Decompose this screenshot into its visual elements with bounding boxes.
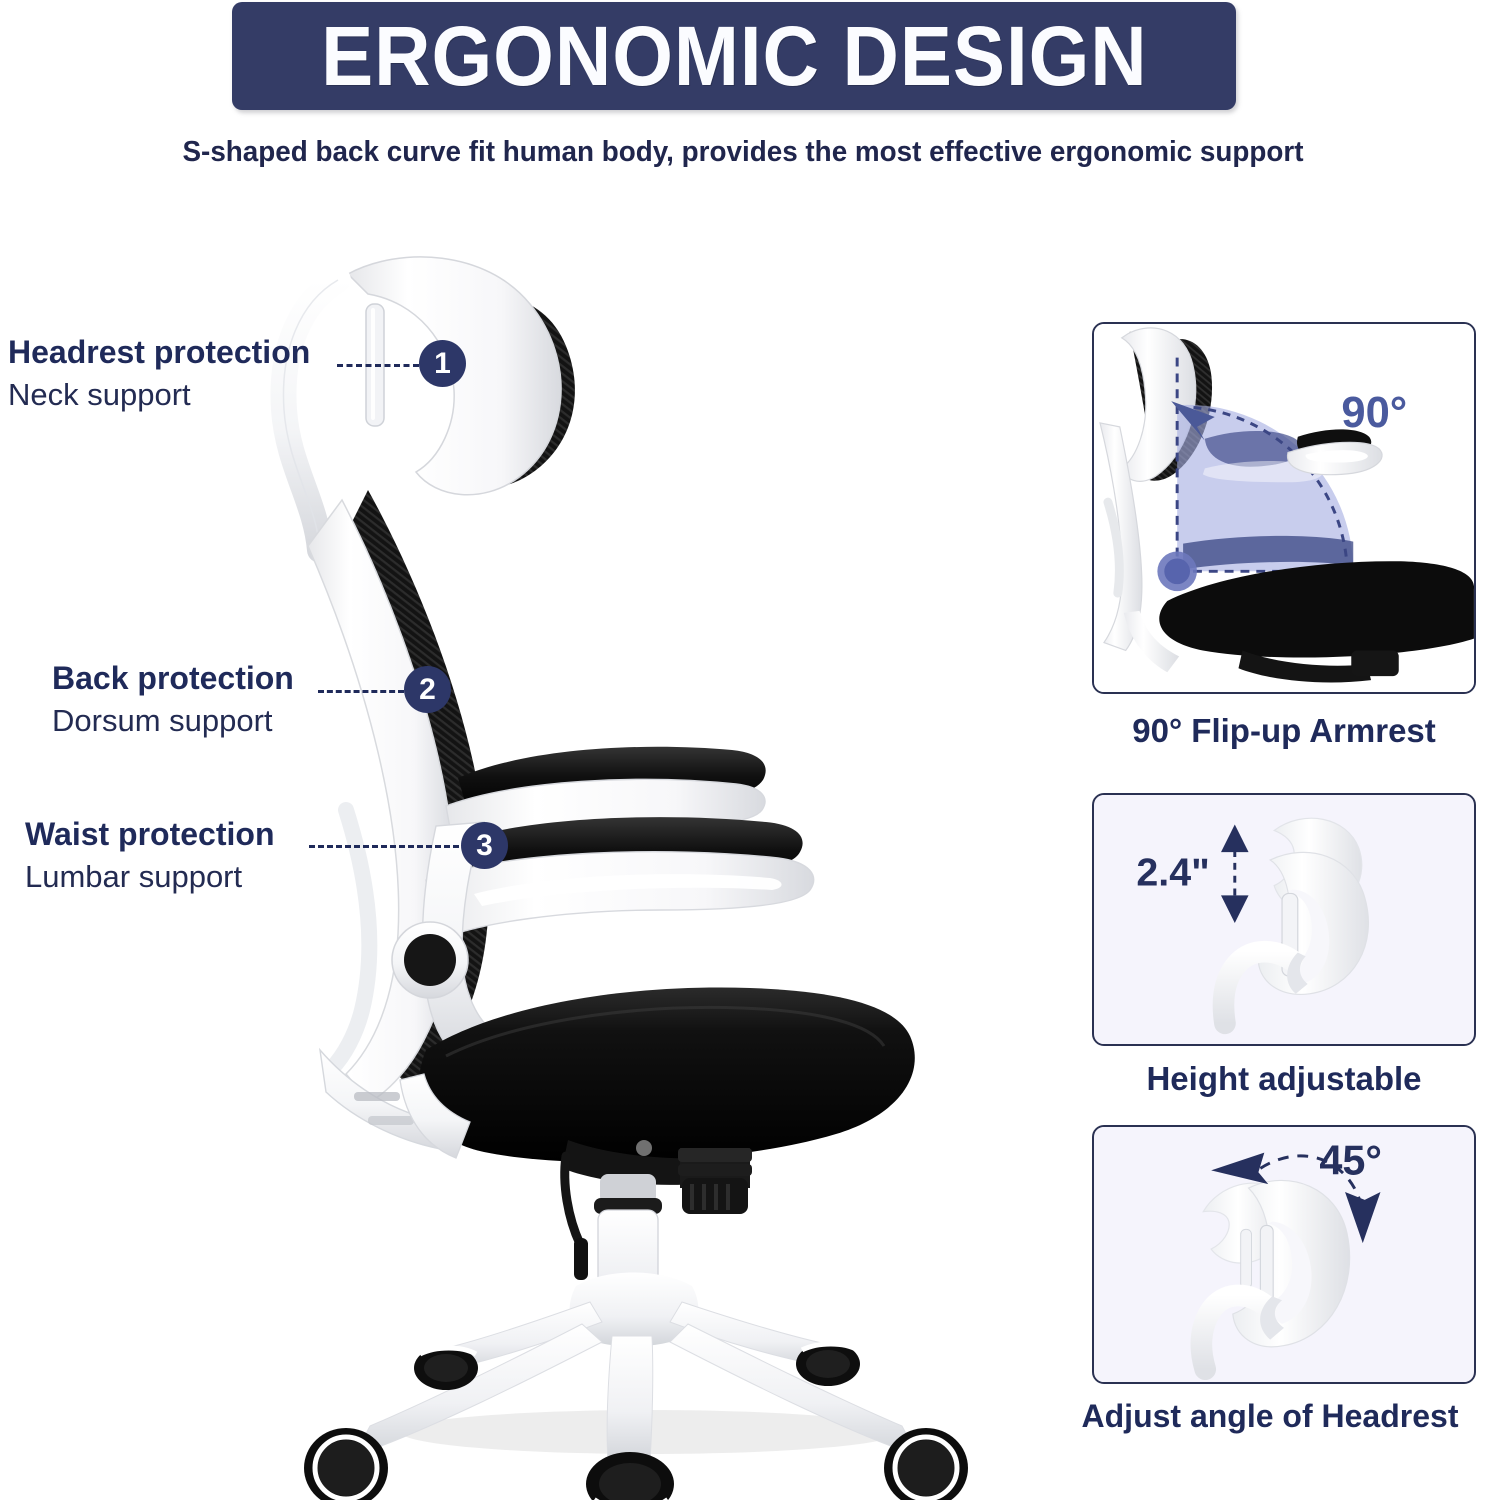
panel3-post-b: [1241, 1229, 1252, 1288]
feature-panel-height: 2.4": [1092, 793, 1476, 1046]
badge-2: 2: [404, 666, 451, 713]
headrest: [283, 257, 574, 550]
callout-back: Back protection Dorsum support: [52, 662, 294, 740]
leader-line-2: [318, 690, 404, 693]
callout-headrest: Headrest protection Neck support: [8, 336, 310, 414]
panel3-angle-label: 45°: [1319, 1137, 1382, 1183]
caster-back-right: [796, 1342, 860, 1386]
caster-back-left: [414, 1346, 478, 1390]
panel2-dimension-label: 2.4": [1136, 851, 1209, 895]
callout-title-2: Back protection: [52, 662, 294, 696]
feature-panel-armrest: 90°: [1092, 322, 1476, 694]
backrest-slat-1: [354, 1092, 400, 1101]
armrest-pivot-button: [404, 934, 456, 986]
chair-illustration: [250, 250, 1040, 1500]
base-leg-front: [607, 1336, 653, 1462]
callout-subtitle-3: Lumbar support: [25, 858, 274, 897]
panel-caption-height: Height adjustable: [1064, 1060, 1486, 1098]
callout-title-1: Headrest protection: [8, 336, 310, 370]
leader-line-1: [337, 364, 419, 367]
product-image: [250, 250, 1040, 1500]
caster-front: [586, 1452, 674, 1500]
tension-knob: [678, 1148, 752, 1214]
leader-line-3: [309, 845, 459, 848]
panel-caption-angle: Adjust angle of Headrest: [1050, 1398, 1486, 1435]
backrest-slat-2: [368, 1116, 414, 1125]
panel1-angle-label: 90°: [1341, 389, 1407, 437]
seat-cushion: [419, 988, 915, 1163]
badge-1: 1: [419, 340, 466, 387]
panel1-knob: [1351, 650, 1398, 676]
infographic-page: ERGONOMIC DESIGN S-shaped back curve fit…: [0, 0, 1486, 1500]
chair-base: [304, 1273, 968, 1500]
armrest-flipup-icon: 90°: [1094, 324, 1474, 692]
callout-subtitle-1: Neck support: [8, 376, 310, 415]
callout-title-3: Waist protection: [25, 818, 274, 852]
panel1-pivot-inner: [1164, 558, 1190, 584]
headrest-angle-icon: 45°: [1094, 1127, 1474, 1382]
page-title: ERGONOMIC DESIGN: [321, 14, 1148, 98]
panel-caption-armrest: 90° Flip-up Armrest: [1064, 712, 1486, 750]
callout-waist: Waist protection Lumbar support: [25, 818, 274, 896]
page-subtitle: S-shaped back curve fit human body, prov…: [30, 136, 1457, 169]
headrest-height-icon: 2.4": [1094, 795, 1474, 1044]
lever-handle: [574, 1238, 588, 1280]
callout-subtitle-2: Dorsum support: [52, 702, 294, 741]
tilt-bolt: [636, 1140, 652, 1156]
banner: ERGONOMIC DESIGN: [232, 2, 1236, 110]
badge-3: 3: [461, 822, 508, 869]
lumbar-rib: [332, 810, 369, 1068]
feature-panel-angle: 45°: [1092, 1125, 1476, 1384]
